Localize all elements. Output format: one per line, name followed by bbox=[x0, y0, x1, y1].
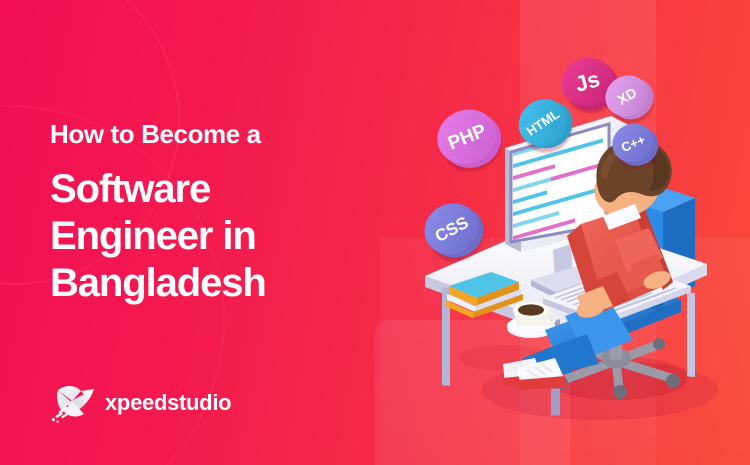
tech-badge-label: HTML bbox=[524, 107, 561, 138]
logo-wordmark: xpeedstudio bbox=[105, 390, 231, 416]
headline-line-2: Engineer in bbox=[50, 213, 390, 260]
tech-badge-label: C++ bbox=[619, 132, 647, 153]
page-title: Software Engineer in Bangladesh bbox=[50, 166, 390, 308]
headline-block: How to Become a Software Engineer in Ban… bbox=[50, 120, 390, 307]
headline-line-1: Software bbox=[50, 166, 390, 213]
brand-logo[interactable]: xpeedstudio bbox=[50, 381, 231, 425]
headline-line-3: Bangladesh bbox=[50, 260, 390, 307]
blog-cover-banner: How to Become a Software Engineer in Ban… bbox=[0, 0, 750, 465]
x-speed-mark-icon bbox=[50, 381, 96, 425]
tech-badge-label: Js bbox=[573, 68, 603, 96]
tech-badge-label: XD bbox=[615, 85, 639, 107]
tech-badge-label: CSS bbox=[432, 213, 471, 244]
tech-badge-label: PHP bbox=[445, 121, 488, 153]
kicker-text: How to Become a bbox=[50, 120, 390, 149]
